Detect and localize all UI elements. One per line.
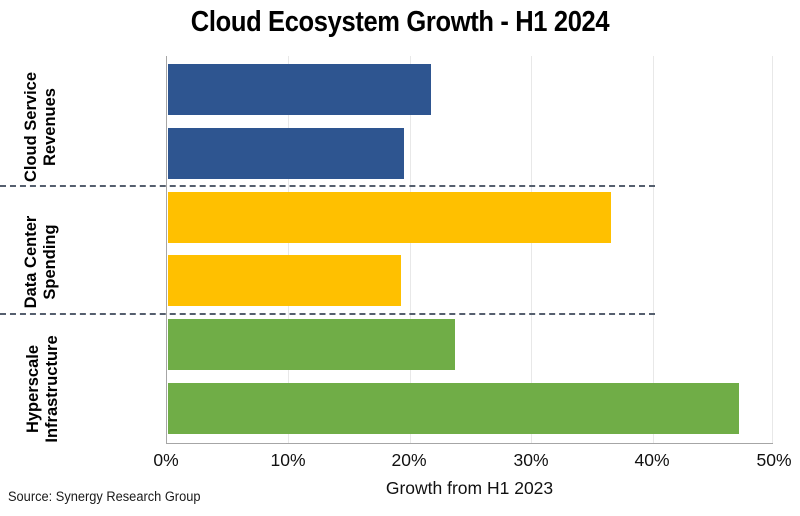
xtick-20: 20% <box>374 450 444 471</box>
xtick-50: 50% <box>739 450 800 471</box>
xtick-10: 10% <box>253 450 323 471</box>
group-label-line: Data Center <box>22 197 41 327</box>
group-label-line: Infrastructure <box>43 319 62 459</box>
bar-capacity[interactable] <box>168 319 455 370</box>
group-label-line: Spending <box>41 197 60 327</box>
xtick-0: 0% <box>131 450 201 471</box>
bar-iaas-paas-hosted-private[interactable] <box>168 64 431 115</box>
bar-public-cloud[interactable] <box>168 192 611 243</box>
group-label-hyperscale-infrastructure: Hyperscale Infrastructure <box>24 319 62 459</box>
xtick-30: 30% <box>496 450 566 471</box>
group-label-line: Cloud Service <box>22 62 41 192</box>
group-label-cloud-service-revenues: Cloud Service Revenues <box>22 62 60 192</box>
group-label-line: Hyperscale <box>24 319 43 459</box>
bar-enterprise-saas[interactable] <box>168 128 404 179</box>
group-label-data-center-spending: Data Center Spending <box>22 197 60 327</box>
group-separator-1 <box>0 185 655 187</box>
plot-area <box>166 56 773 444</box>
x-axis-title: Growth from H1 2023 <box>166 478 773 499</box>
source-note: Source: Synergy Research Group <box>8 489 200 504</box>
group-label-line: Revenues <box>41 62 60 192</box>
group-separator-2 <box>0 313 655 315</box>
bar-future-pipeline[interactable] <box>168 383 739 434</box>
bar-private-cloud[interactable] <box>168 255 401 306</box>
chart-title: Cloud Ecosystem Growth - H1 2024 <box>48 6 752 39</box>
gridline-50pct <box>772 56 773 443</box>
xtick-40: 40% <box>617 450 687 471</box>
